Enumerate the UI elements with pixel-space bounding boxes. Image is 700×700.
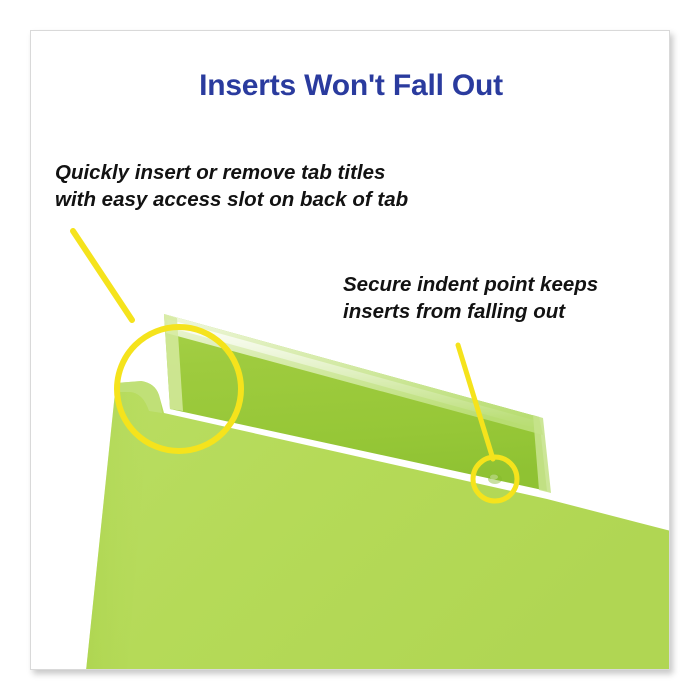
product-card: Inserts Won't Fall Out Quickly insert or… bbox=[30, 30, 670, 670]
product-figure: Inserts Won't Fall Out Quickly insert or… bbox=[0, 0, 700, 700]
page-title: Inserts Won't Fall Out bbox=[31, 69, 670, 103]
indent-callout-line-2: inserts from falling out bbox=[343, 298, 598, 325]
indent-callout-line-1: Secure indent point keeps bbox=[343, 271, 598, 298]
slot-callout-text: Quickly insert or remove tab titles with… bbox=[55, 159, 408, 214]
secure-indent-highlight bbox=[490, 475, 498, 480]
slot-callout-line-2: with easy access slot on back of tab bbox=[55, 186, 408, 213]
product-photo bbox=[31, 31, 670, 670]
slot-callout-line-1: Quickly insert or remove tab titles bbox=[55, 159, 408, 186]
indent-callout-text: Secure indent point keeps inserts from f… bbox=[343, 271, 598, 326]
